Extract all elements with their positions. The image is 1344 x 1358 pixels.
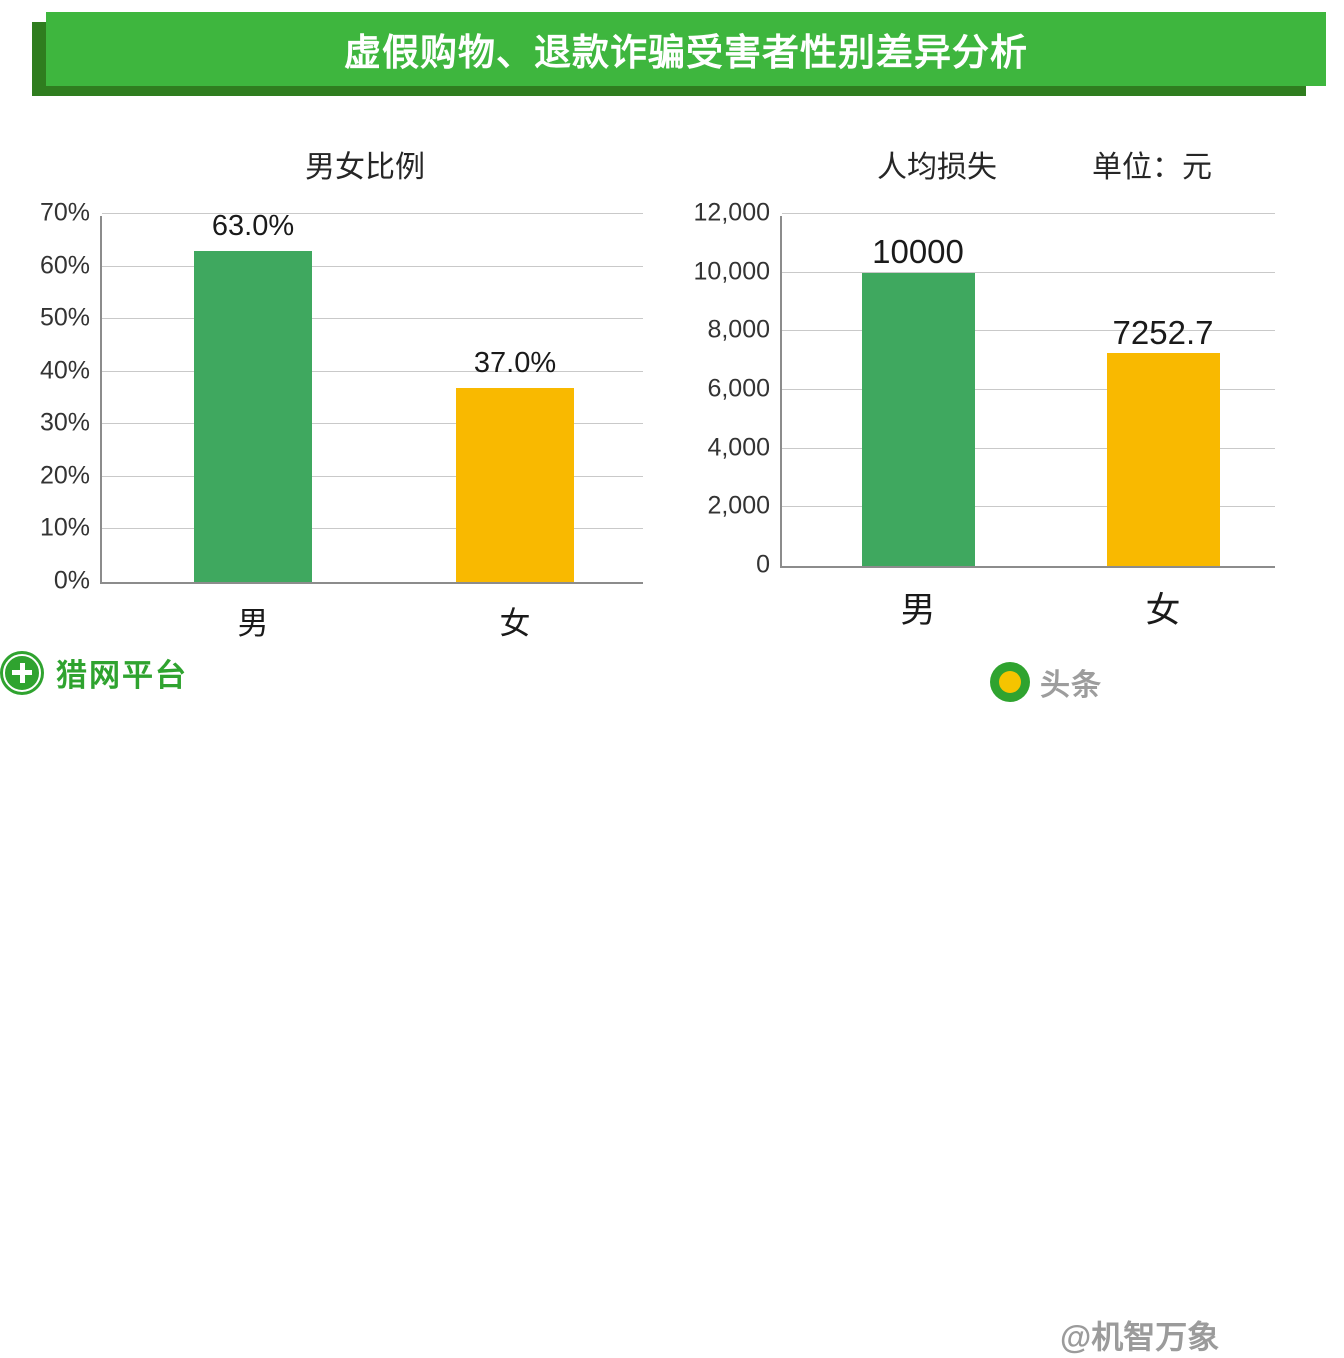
y-tick-label: 10%: [40, 514, 102, 543]
bar-female-loss: [1107, 353, 1220, 566]
y-tick-label: 70%: [40, 199, 102, 228]
chart-title-right: 人均损失: [877, 142, 997, 186]
bar-value-label-female-loss: 7252.7: [1113, 314, 1214, 352]
chart-unit-label: 单位：元: [1092, 142, 1212, 186]
y-tick-label: 20%: [40, 461, 102, 490]
y-tick-label: 60%: [40, 251, 102, 280]
y-tick-label: 50%: [40, 304, 102, 333]
toutiao-icon: [990, 662, 1030, 702]
y-tick-label: 0%: [54, 567, 102, 596]
chart-title-left: 男女比例: [305, 142, 425, 186]
liewang-logo: 猎网平台: [0, 650, 1344, 695]
y-tick-label: 4,000: [707, 433, 782, 462]
watermark-text: @机智万象: [1060, 1312, 1219, 1358]
y-tick-label: 2,000: [707, 492, 782, 521]
bar-value-label-male-loss: 10000: [872, 233, 964, 271]
chart-panel-gender-ratio: 男女比例 70% 60% 50% 40% 30% 20% 10% 0% 6: [0, 120, 672, 665]
toutiao-logo: 头条: [990, 660, 1102, 704]
category-label-female-loss: 女: [1145, 582, 1180, 633]
gridline: 12,000: [782, 213, 1275, 214]
gridline: 50%: [102, 318, 643, 319]
bar-male-ratio: [194, 251, 312, 582]
plot-area-right: 12,000 10,000 8,000 6,000 4,000 2,000 0 …: [780, 216, 1275, 568]
gridline: 40%: [102, 371, 643, 372]
category-label-male-loss: 男: [900, 582, 935, 633]
medical-cross-icon: [0, 651, 44, 695]
footer: 猎网平台 头条 @机智万象: [0, 650, 1344, 720]
y-tick-label: 30%: [40, 409, 102, 438]
title-banner: 虚假购物、退款诈骗受害者性别差异分析: [18, 8, 1326, 96]
bar-female-ratio: [456, 388, 574, 583]
y-tick-label: 40%: [40, 356, 102, 385]
gridline: 10,000: [782, 272, 1275, 273]
y-tick-label: 6,000: [707, 375, 782, 404]
bar-male-loss: [862, 273, 975, 566]
y-tick-label: 10,000: [694, 257, 782, 286]
bar-value-label-male: 63.0%: [212, 210, 294, 243]
title-bar: 虚假购物、退款诈骗受害者性别差异分析: [46, 12, 1326, 86]
chart-panel-average-loss: 人均损失 单位：元 12,000 10,000 8,000 6,000 4,00…: [672, 120, 1344, 665]
category-label-male: 男: [238, 598, 269, 643]
y-tick-label: 8,000: [707, 316, 782, 345]
gridline: 60%: [102, 266, 643, 267]
toutiao-logo-text: 头条: [1040, 660, 1102, 704]
y-tick-label: 0: [756, 551, 782, 580]
liewang-logo-text: 猎网平台: [56, 650, 188, 695]
category-label-female: 女: [500, 598, 531, 643]
gridline: 70%: [102, 213, 643, 214]
y-tick-label: 12,000: [694, 199, 782, 228]
page-title: 虚假购物、退款诈骗受害者性别差异分析: [344, 22, 1028, 76]
plot-area-left: 70% 60% 50% 40% 30% 20% 10% 0% 63.0% 37.…: [100, 216, 643, 584]
bar-value-label-female: 37.0%: [474, 347, 556, 380]
